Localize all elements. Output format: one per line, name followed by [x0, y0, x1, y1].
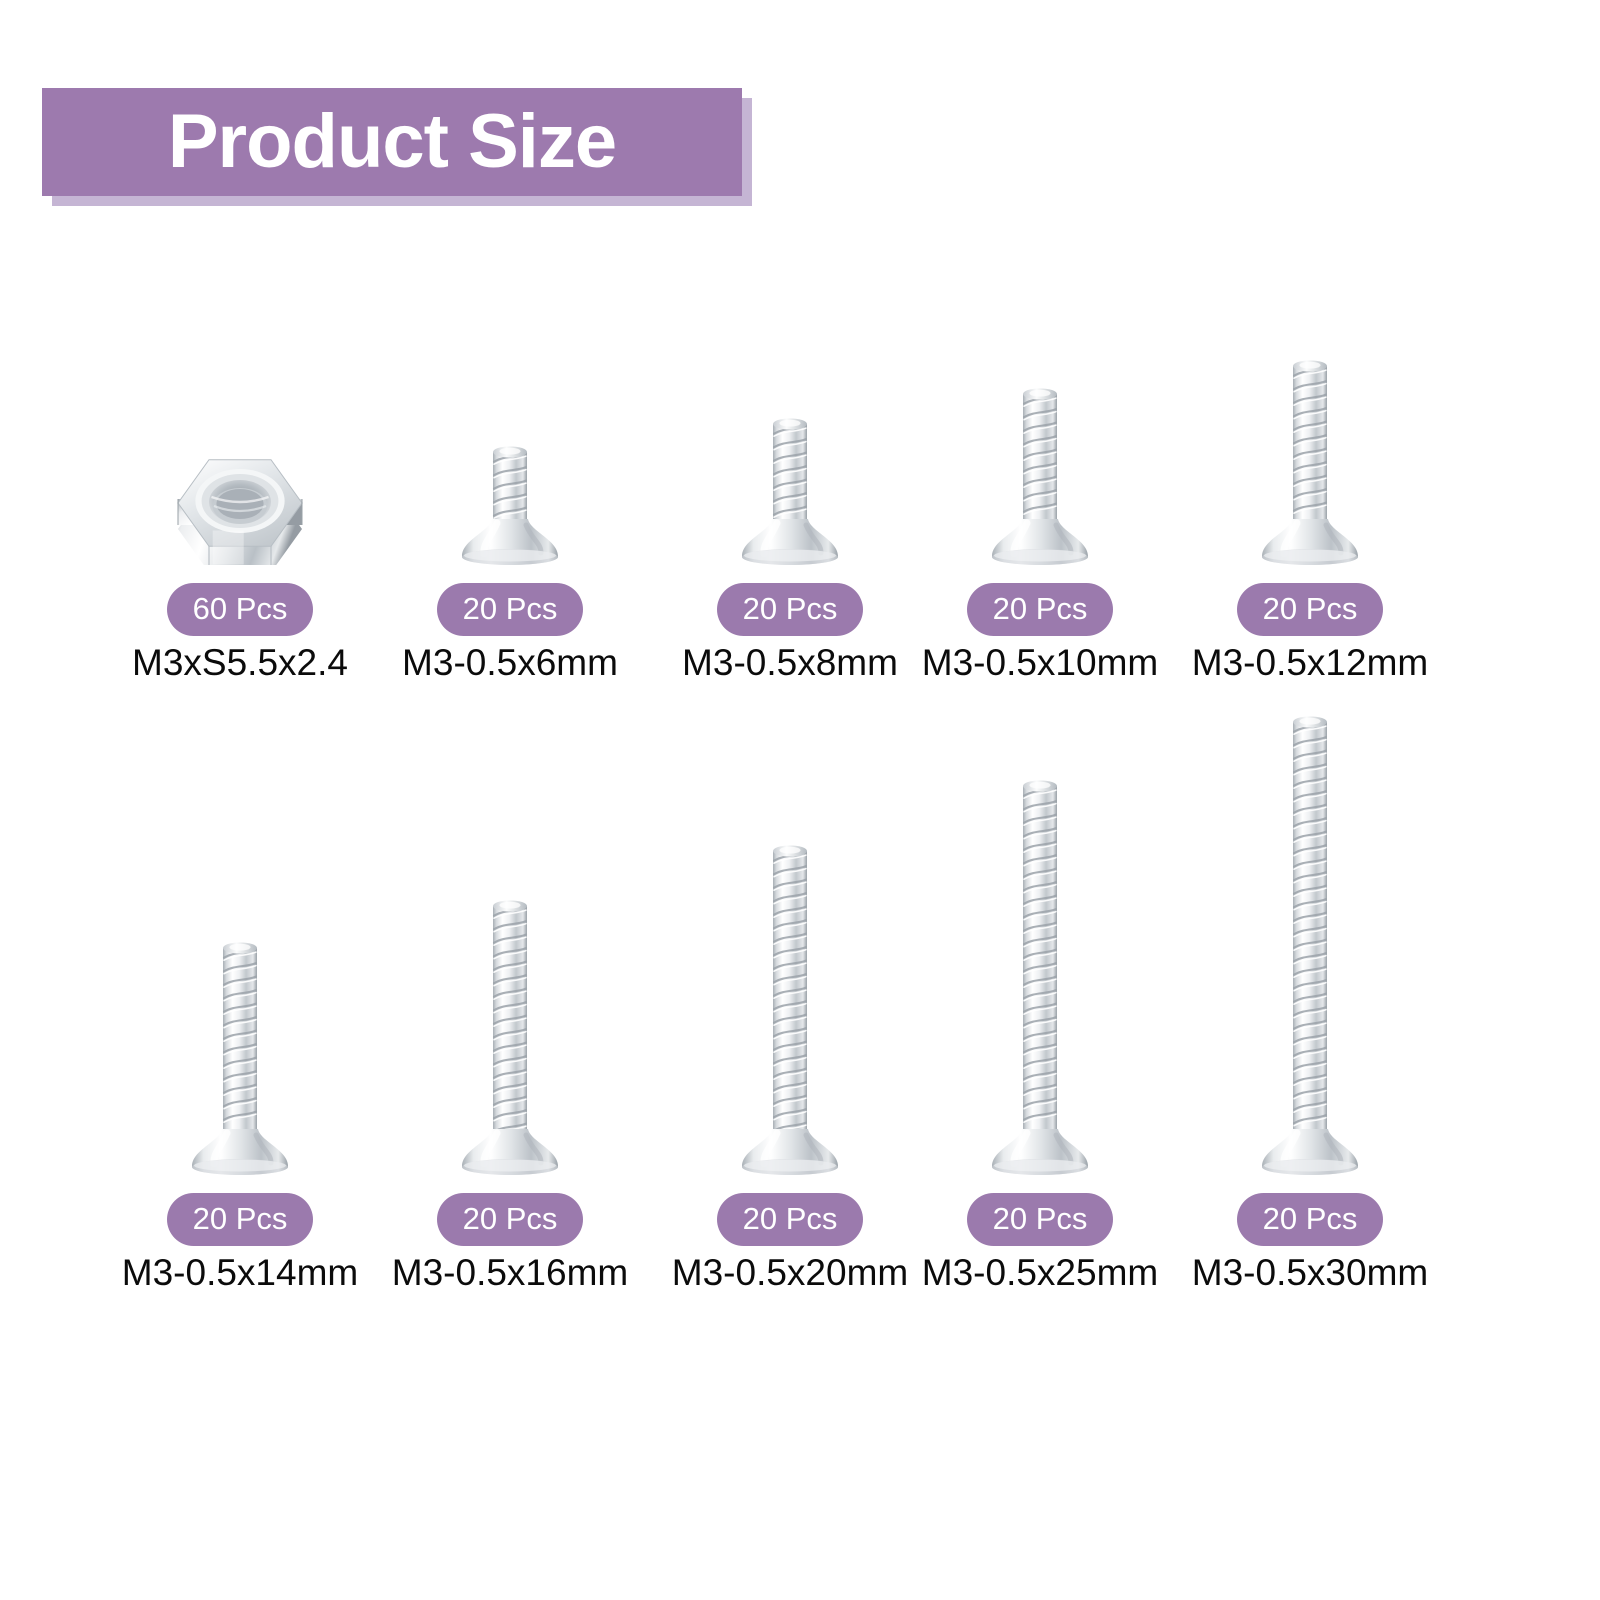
size-label: M3-0.5x25mm — [890, 1253, 1190, 1294]
quantity-badge-row: 20 Pcs — [360, 1193, 660, 1243]
product-size-item: 20 PcsM3-0.5x16mm — [360, 845, 660, 1294]
header-banner: Product Size — [42, 88, 742, 196]
flat-head-screw-icon — [360, 845, 660, 1175]
product-size-item: 20 PcsM3-0.5x6mm — [360, 235, 660, 684]
product-size-item: 20 PcsM3-0.5x12mm — [1160, 235, 1460, 684]
flat-head-screw-icon — [890, 235, 1190, 565]
flat-head-screw-icon — [360, 235, 660, 565]
product-size-item: 20 PcsM3-0.5x10mm — [890, 235, 1190, 684]
product-size-item: 20 PcsM3-0.5x25mm — [890, 845, 1190, 1294]
quantity-badge-row: 20 Pcs — [890, 1193, 1190, 1243]
quantity-badge-row: 60 Pcs — [90, 583, 390, 633]
quantity-badge: 20 Pcs — [437, 583, 584, 636]
quantity-badge: 20 Pcs — [717, 583, 864, 636]
product-size-item: 20 PcsM3-0.5x30mm — [1160, 845, 1460, 1294]
quantity-badge: 60 Pcs — [167, 583, 314, 636]
size-label: M3-0.5x10mm — [890, 643, 1190, 684]
quantity-badge-row: 20 Pcs — [890, 583, 1190, 633]
size-label: M3-0.5x6mm — [360, 643, 660, 684]
flat-head-screw-icon — [90, 845, 390, 1175]
quantity-badge: 20 Pcs — [167, 1193, 314, 1246]
quantity-badge: 20 Pcs — [967, 1193, 1114, 1246]
size-label: M3-0.5x30mm — [1160, 1253, 1460, 1294]
size-label: M3-0.5x14mm — [90, 1253, 390, 1294]
flat-head-screw-icon — [890, 845, 1190, 1175]
flat-head-screw-icon — [1160, 235, 1460, 565]
size-label: M3xS5.5x2.4 — [90, 643, 390, 684]
flat-head-screw-icon — [1160, 845, 1460, 1175]
hex-nut-icon — [90, 235, 390, 565]
quantity-badge: 20 Pcs — [437, 1193, 584, 1246]
size-label: M3-0.5x12mm — [1160, 643, 1460, 684]
quantity-badge-row: 20 Pcs — [1160, 583, 1460, 633]
page-title: Product Size — [42, 88, 742, 196]
product-size-item: 20 PcsM3-0.5x14mm — [90, 845, 390, 1294]
quantity-badge: 20 Pcs — [1237, 583, 1384, 636]
quantity-badge-row: 20 Pcs — [360, 583, 660, 633]
quantity-badge-row: 20 Pcs — [1160, 1193, 1460, 1243]
quantity-badge: 20 Pcs — [967, 583, 1114, 636]
quantity-badge-row: 20 Pcs — [90, 1193, 390, 1243]
quantity-badge: 20 Pcs — [1237, 1193, 1384, 1246]
product-size-item: 60 PcsM3xS5.5x2.4 — [90, 235, 390, 684]
quantity-badge: 20 Pcs — [717, 1193, 864, 1246]
size-label: M3-0.5x16mm — [360, 1253, 660, 1294]
